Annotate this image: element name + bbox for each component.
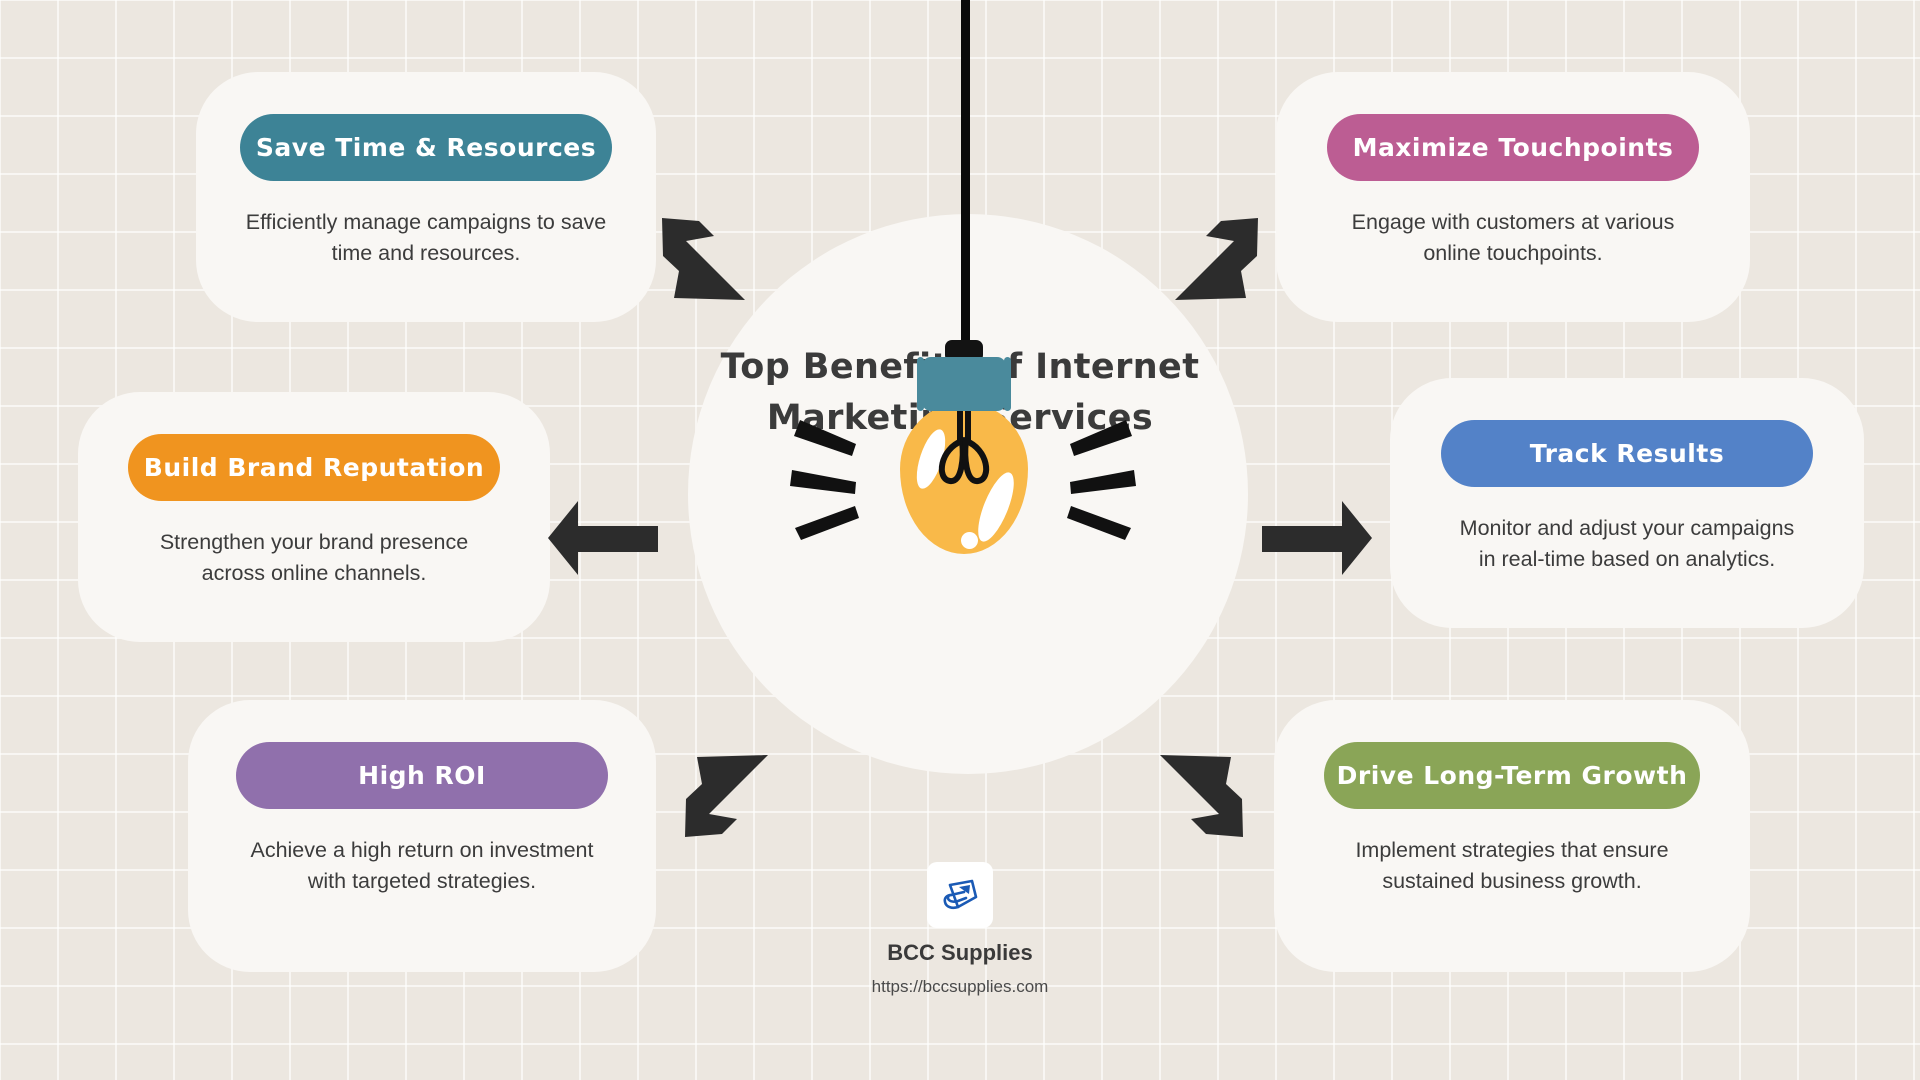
arrow-up-left	[662, 218, 745, 300]
card-description: Efficiently manage campaigns to save tim…	[236, 207, 616, 268]
benefit-card-save-time-resources[interactable]: Save Time & Resources Efficiently manage…	[196, 72, 656, 322]
card-title-pill: Track Results	[1441, 420, 1813, 487]
bulb-highlight-dot	[961, 532, 978, 549]
card-title-pill: Build Brand Reputation	[128, 434, 500, 501]
arrow-up-right	[1175, 218, 1258, 300]
card-description: Strengthen your brand presence across on…	[154, 527, 474, 588]
paperclip-icon	[936, 871, 984, 919]
card-title-pill: Save Time & Resources	[240, 114, 612, 181]
brand-url[interactable]: https://bccsupplies.com	[0, 977, 1920, 997]
card-title-pill: Drive Long-Term Growth	[1324, 742, 1700, 809]
bulb-cap	[922, 357, 1006, 411]
card-description: Monitor and adjust your campaigns in rea…	[1449, 513, 1805, 574]
benefit-card-maximize-touchpoints[interactable]: Maximize Touchpoints Engage with custome…	[1276, 72, 1750, 322]
lightbulb-icon	[868, 340, 1058, 570]
card-title-pill: High ROI	[236, 742, 608, 809]
benefit-card-build-brand-reputation[interactable]: Build Brand Reputation Strengthen your b…	[78, 392, 550, 642]
arrow-left	[548, 501, 658, 575]
arrow-down-right	[1160, 755, 1243, 837]
infographic-canvas: Top Benefits of Internet Marketing Servi…	[0, 0, 1920, 1080]
card-title-pill: Maximize Touchpoints	[1327, 114, 1699, 181]
brand-name: BCC Supplies	[0, 940, 1920, 966]
arrow-down-left	[685, 755, 768, 837]
brand-footer: BCC Supplies https://bccsupplies.com	[0, 862, 1920, 997]
arrow-right	[1262, 501, 1372, 575]
bulb-filament	[900, 395, 1028, 505]
brand-logo	[927, 862, 993, 928]
bulb-cord	[961, 0, 970, 368]
benefit-card-track-results[interactable]: Track Results Monitor and adjust your ca…	[1390, 378, 1864, 628]
card-description: Engage with customers at various online …	[1343, 207, 1683, 268]
